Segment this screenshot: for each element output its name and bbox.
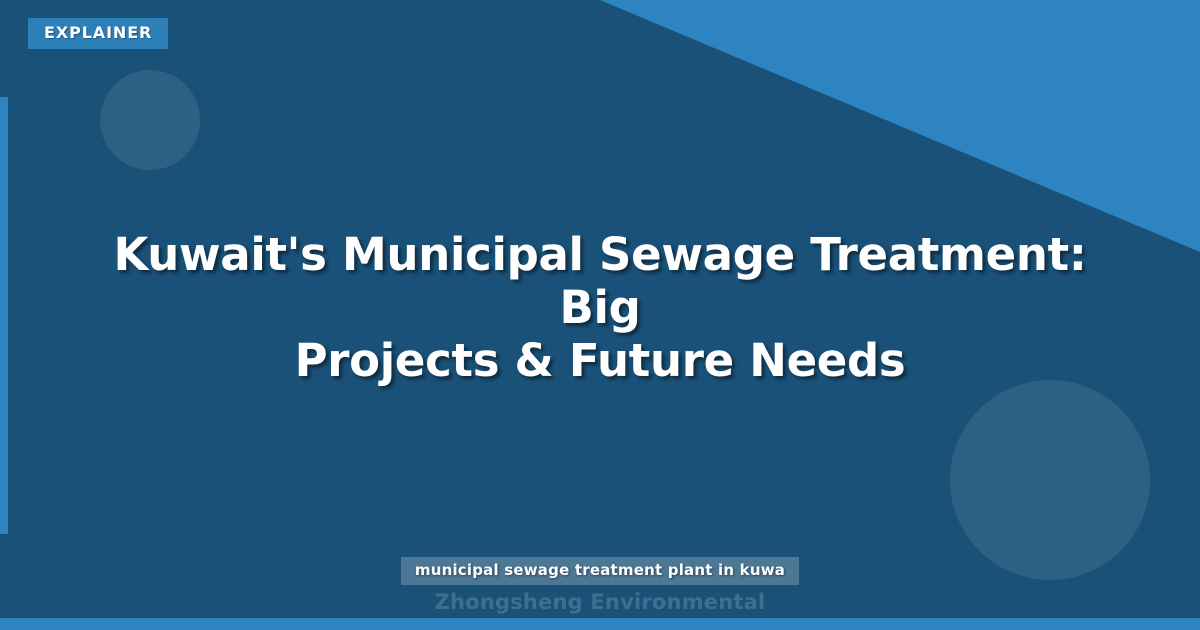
decor-circle-bottom-right — [950, 380, 1150, 580]
bottom-accent-strip — [0, 618, 1200, 630]
page-title-line-2: Projects & Future Needs — [80, 334, 1120, 387]
title-container: Kuwait's Municipal Sewage Treatment: Big… — [0, 228, 1200, 387]
caption-container: municipal sewage treatment plant in kuwa — [0, 557, 1200, 585]
explainer-social-card: EXPLAINER Kuwait's Municipal Sewage Trea… — [0, 0, 1200, 630]
image-caption-chip: municipal sewage treatment plant in kuwa — [401, 557, 799, 585]
page-title: Kuwait's Municipal Sewage Treatment: Big… — [80, 228, 1120, 387]
footer-container: Zhongsheng Environmental — [0, 591, 1200, 614]
page-title-line-1: Kuwait's Municipal Sewage Treatment: Big — [80, 228, 1120, 334]
category-badge: EXPLAINER — [28, 18, 168, 49]
decor-circle-top-left — [100, 70, 200, 170]
brand-watermark: Zhongsheng Environmental — [435, 590, 766, 614]
